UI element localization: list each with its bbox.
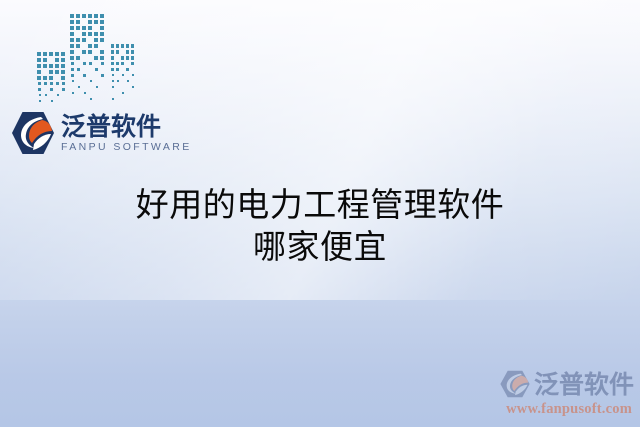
fanpu-logo-mark-icon: [10, 110, 56, 156]
page-title-line-2: 哪家便宜: [0, 226, 640, 268]
page-title: 好用的电力工程管理软件 哪家便宜: [0, 184, 640, 268]
watermark-url: www.fanpusoft.com: [474, 401, 634, 418]
fanpu-watermark-mark-icon: [499, 368, 531, 400]
page-title-line-1: 好用的电力工程管理软件: [0, 184, 640, 226]
slide-canvas: 泛普软件 FANPU SOFTWARE 好用的电力工程管理软件 哪家便宜 泛普软…: [0, 0, 640, 427]
brand-logo: 泛普软件 FANPU SOFTWARE: [10, 110, 192, 156]
pixel-cityscape-graphic: [36, 10, 140, 106]
brand-name-en: FANPU SOFTWARE: [61, 142, 192, 153]
brand-name-cn: 泛普软件: [61, 114, 192, 139]
watermark-brand-name: 泛普软件: [534, 372, 634, 397]
watermark: 泛普软件 www.fanpusoft.com: [474, 368, 634, 418]
watermark-logo-row: 泛普软件: [474, 368, 634, 400]
brand-wordmark: 泛普软件 FANPU SOFTWARE: [61, 114, 192, 153]
